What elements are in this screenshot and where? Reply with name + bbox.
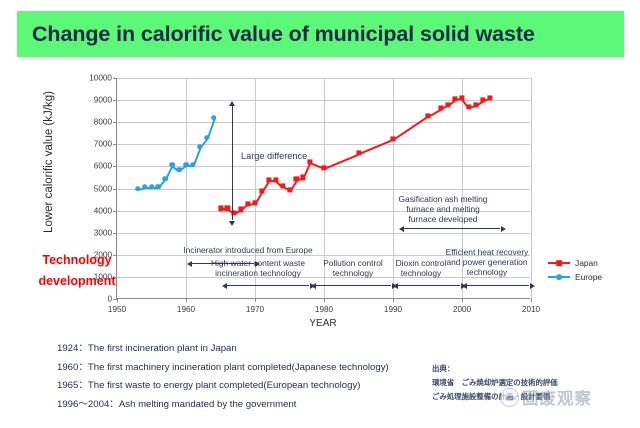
data-point-europe	[204, 135, 210, 141]
data-point-japan	[459, 95, 464, 100]
data-point-japan	[266, 177, 271, 182]
y-axis-tick-label: 0	[107, 295, 112, 304]
y-axis-tick-label: 4000	[94, 206, 112, 215]
legend-item-europe: Europe	[548, 270, 602, 284]
technology-development-label: Technology development	[36, 250, 118, 293]
plot-area: 0100020003000400050006000700080009000100…	[116, 78, 530, 299]
data-point-japan	[294, 176, 299, 181]
data-point-japan	[280, 184, 285, 189]
legend-label-europe: Europe	[575, 272, 602, 282]
page-title: Change in calorific value of municipal s…	[32, 22, 535, 47]
footnote-item: 1924：The first incineration plant in Jap…	[57, 340, 427, 359]
pollution-control-arrow	[316, 285, 391, 286]
data-point-japan	[239, 207, 244, 212]
data-point-japan	[473, 102, 478, 107]
x-axis-tick-mark	[393, 298, 394, 302]
y-axis-tick-mark	[113, 189, 117, 190]
large-difference-label: Large difference	[241, 151, 307, 162]
efficient-heat-arrow	[467, 285, 529, 286]
gasification-arrow	[404, 228, 500, 229]
watermark: 固废观察	[500, 385, 592, 409]
arrow-head-left-icon	[187, 261, 192, 267]
x-axis-tick-mark	[462, 298, 463, 302]
y-axis-tick-label: 9000	[94, 96, 112, 105]
data-point-europe	[176, 167, 182, 173]
y-axis-tick-mark	[113, 122, 117, 123]
data-point-japan	[321, 165, 326, 170]
arrow-head-left-icon	[462, 283, 467, 289]
data-point-japan	[453, 96, 458, 101]
arrow-head-left-icon	[311, 283, 316, 289]
data-point-japan	[287, 187, 292, 192]
data-point-japan	[446, 102, 451, 107]
x-axis-tick-label: 1970	[246, 305, 264, 314]
tech-dev-line1: Technology	[36, 250, 118, 271]
arrow-head-right-icon	[530, 283, 535, 289]
y-axis-tick-label: 5000	[94, 184, 112, 193]
data-point-europe	[211, 115, 217, 121]
x-axis-tick-label: 1980	[315, 305, 333, 314]
y-axis-tick-mark	[113, 78, 117, 79]
y-axis-tick-mark	[113, 166, 117, 167]
data-point-japan	[425, 113, 430, 118]
x-axis-title: YEAR	[116, 318, 530, 329]
x-axis-tick-label: 2000	[453, 305, 471, 314]
slide-root: Change in calorific value of municipal s…	[0, 0, 640, 428]
legend-label-japan: Japan	[575, 258, 598, 268]
arrow-head-left-icon	[393, 283, 398, 289]
gasification-label: Gasification ash melting furnace and mel…	[378, 195, 508, 225]
data-point-japan	[246, 201, 251, 206]
data-point-japan	[390, 136, 395, 141]
y-axis-tick-mark	[113, 233, 117, 234]
y-axis-tick-mark	[113, 100, 117, 101]
data-point-europe	[197, 144, 203, 150]
x-axis-tick-mark	[324, 298, 325, 302]
data-point-europe	[190, 162, 196, 168]
y-axis-tick-label: 10000	[89, 74, 112, 83]
data-point-japan	[466, 104, 471, 109]
footnote-list: 1924：The first incineration plant in Jap…	[57, 340, 427, 415]
large-difference-arrow	[232, 106, 233, 220]
x-axis-tick-mark	[255, 298, 256, 302]
dioxin-control-arrow	[398, 285, 460, 286]
high-water-arrow	[227, 285, 309, 286]
legend-key-europe	[548, 272, 570, 282]
data-point-europe	[149, 184, 155, 190]
x-axis-tick-mark	[186, 298, 187, 302]
chart-figure: Lower calorific value (kJ/kg) 0100020003…	[0, 60, 640, 330]
data-point-japan	[273, 177, 278, 182]
y-axis-tick-mark	[113, 211, 117, 212]
legend-item-japan: Japan	[548, 256, 602, 270]
y-axis-tick-mark	[113, 144, 117, 145]
data-point-europe	[142, 184, 148, 190]
series-segment-japan	[393, 116, 429, 141]
data-point-japan	[259, 188, 264, 193]
data-point-japan	[439, 105, 444, 110]
tech-dev-line2: development	[36, 271, 118, 292]
data-point-japan	[301, 175, 306, 180]
x-axis-tick-label: 2010	[522, 305, 540, 314]
y-axis-tick-label: 6000	[94, 162, 112, 171]
data-point-japan	[480, 98, 485, 103]
watermark-logo-icon	[500, 388, 519, 407]
arrow-head-down-icon	[229, 221, 235, 226]
source-heading: 出典：	[432, 362, 632, 376]
data-point-japan	[487, 95, 492, 100]
y-axis-tick-label: 8000	[94, 118, 112, 127]
arrow-head-left-icon	[399, 226, 404, 232]
legend-key-japan	[548, 258, 570, 268]
y-axis-tick-label: 3000	[94, 228, 112, 237]
x-axis-tick-label: 1950	[108, 305, 126, 314]
data-point-japan	[356, 151, 361, 156]
arrow-head-left-icon	[222, 283, 227, 289]
watermark-text: 固废观察	[522, 385, 592, 409]
arrow-head-right-icon	[501, 226, 506, 232]
data-point-europe	[183, 162, 189, 168]
data-point-japan	[252, 200, 257, 205]
footnote-item: 1965：The first waste to energy plant com…	[57, 377, 427, 396]
x-axis-tick-mark	[117, 298, 118, 302]
title-banner: Change in calorific value of municipal s…	[17, 11, 624, 57]
data-point-europe	[156, 184, 162, 190]
x-axis-tick-label: 1960	[177, 305, 195, 314]
efficient-heat-label: Efficient heat recovery and power genera…	[427, 248, 547, 278]
footnote-item: 1996～2004：Ash melting mandated by the go…	[57, 396, 427, 415]
incinerator-introduced-label: Incinerator introduced from Europe	[153, 246, 343, 256]
data-point-europe	[169, 162, 175, 168]
chart-legend: Japan Europe	[548, 256, 602, 284]
high-water-label: High water content waste incineration te…	[210, 259, 306, 279]
x-axis-tick-label: 1990	[384, 305, 402, 314]
data-point-europe	[163, 176, 169, 182]
series-segment-japan	[359, 139, 394, 155]
data-point-europe	[135, 186, 141, 192]
data-point-japan	[225, 206, 230, 211]
y-axis-tick-label: 7000	[94, 140, 112, 149]
x-axis-tick-mark	[531, 298, 532, 302]
data-point-japan	[218, 206, 223, 211]
y-axis-title: Lower calorific value (kJ/kg)	[43, 67, 55, 257]
arrow-head-up-icon	[229, 101, 235, 106]
data-point-japan	[308, 159, 313, 164]
footnote-item: 1960：The first machinery incineration pl…	[57, 359, 427, 378]
